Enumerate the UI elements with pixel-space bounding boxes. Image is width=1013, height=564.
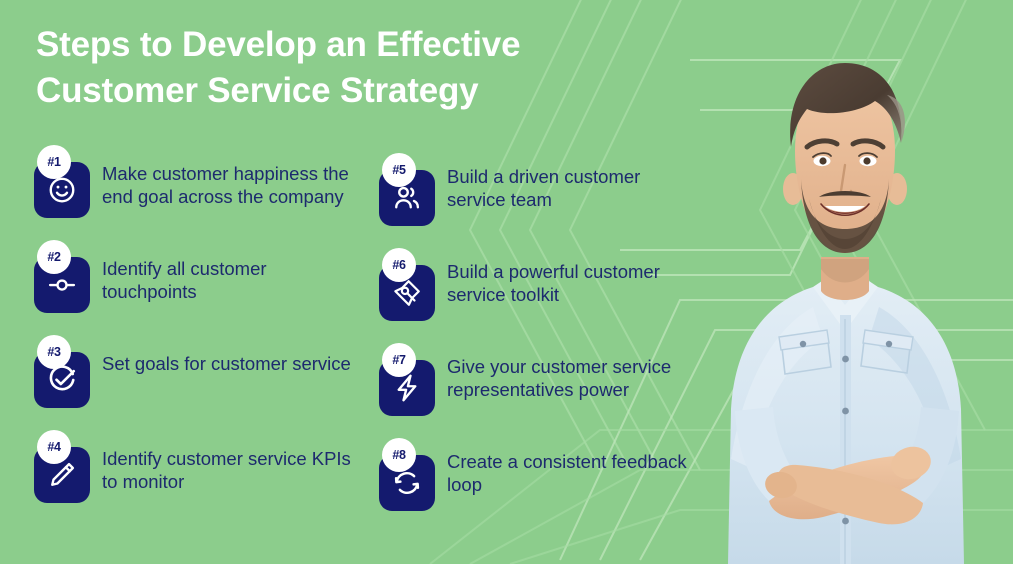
step-item-2: #2 Identify all customer touchpoints: [28, 240, 373, 335]
step-icon-tile-3: #3: [28, 335, 94, 419]
step-icon-tile-8: #8: [373, 438, 439, 522]
step-icon-tile-7: #7: [373, 343, 439, 427]
step-item-6: #6 Build a powerful customer service too…: [373, 240, 718, 335]
step-icon-tile-4: #4: [28, 430, 94, 514]
page-title: Steps to Develop an Effective Customer S…: [36, 22, 636, 114]
step-item-8: #8 Create a consistent feedback loop: [373, 430, 718, 525]
page-title-line-2: Customer Service Strategy: [36, 68, 636, 114]
step-label-5: Build a driven customer service team: [439, 153, 699, 212]
step-badge-1: #1: [37, 145, 71, 179]
step-label-4: Identify customer service KPIs to monito…: [94, 430, 362, 494]
step-badge-5: #5: [382, 153, 416, 187]
step-label-8: Create a consistent feedback loop: [439, 438, 699, 497]
steps-left-column: #1 Make customer happiness the end goal …: [28, 145, 373, 525]
step-item-5: #5 Build a driven customer service team: [373, 145, 718, 240]
step-label-6: Build a powerful customer service toolki…: [439, 248, 699, 307]
step-badge-6: #6: [382, 248, 416, 282]
step-label-2: Identify all customer touchpoints: [94, 240, 362, 304]
step-badge-4: #4: [37, 430, 71, 464]
step-badge-3: #3: [37, 335, 71, 369]
step-icon-tile-5: #5: [373, 153, 439, 237]
steps-right-column: #5 Build a driven customer service team: [373, 145, 718, 525]
step-label-3: Set goals for customer service: [94, 335, 351, 375]
step-item-4: #4 Identify customer service KPIs to mon…: [28, 430, 373, 525]
infographic-canvas: Steps to Develop an Effective Customer S…: [0, 0, 1013, 564]
step-badge-7: #7: [382, 343, 416, 377]
step-label-7: Give your customer service representativ…: [439, 343, 699, 402]
step-item-7: #7 Give your customer service representa…: [373, 335, 718, 430]
step-item-1: #1 Make customer happiness the end goal …: [28, 145, 373, 240]
step-icon-tile-6: #6: [373, 248, 439, 332]
step-badge-2: #2: [37, 240, 71, 274]
step-icon-tile-2: #2: [28, 240, 94, 324]
step-item-3: #3 Set goals for customer service: [28, 335, 373, 430]
step-badge-8: #8: [382, 438, 416, 472]
page-title-line-1: Steps to Develop an Effective: [36, 22, 636, 68]
person-photo: [673, 39, 1013, 564]
step-label-1: Make customer happiness the end goal acr…: [94, 145, 362, 209]
step-icon-tile-1: #1: [28, 145, 94, 229]
